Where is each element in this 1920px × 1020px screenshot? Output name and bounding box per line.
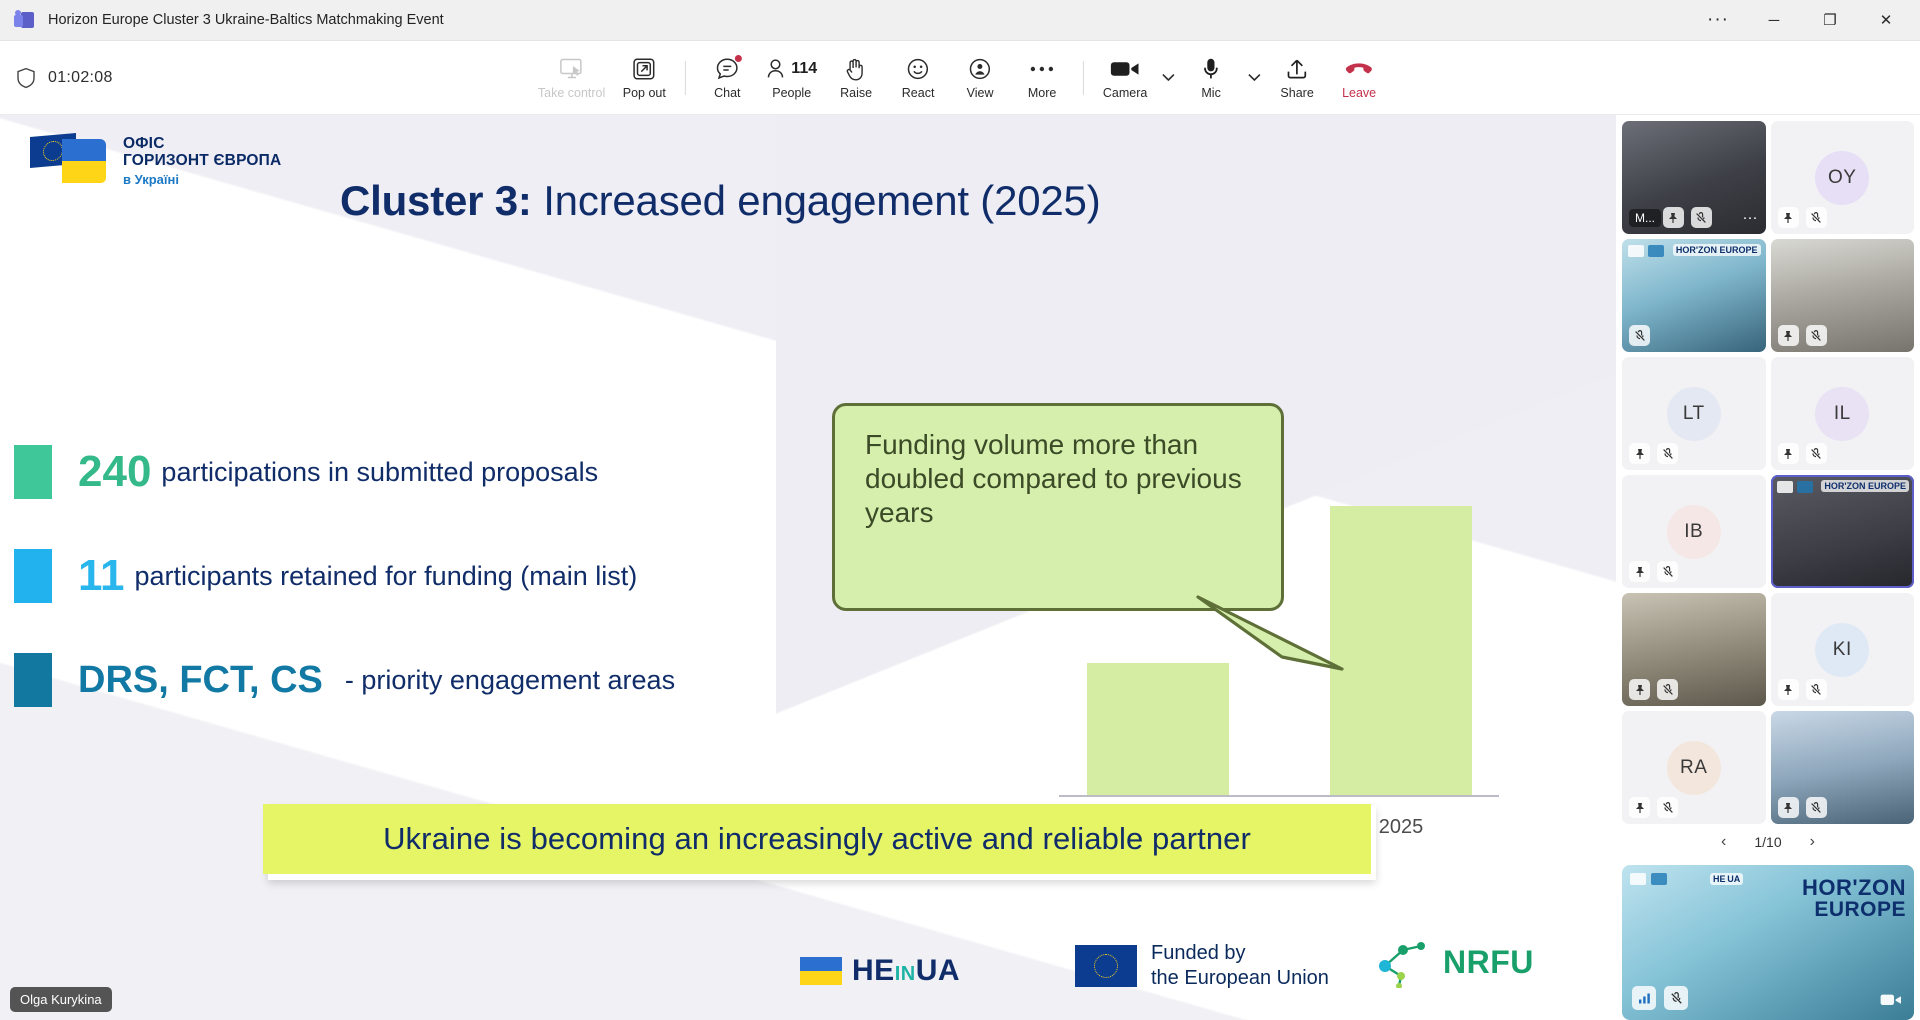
participant-tile[interactable]: IL	[1771, 357, 1915, 470]
people-icon	[766, 57, 788, 81]
list-item: 11 participants retained for funding (ma…	[14, 549, 914, 603]
pager-next-button[interactable]: ›	[1804, 831, 1821, 853]
mic-off-icon	[1657, 679, 1678, 700]
self-he-line-2: EUROPE	[1802, 899, 1906, 920]
pin-icon[interactable]	[1629, 679, 1650, 700]
camera-icon	[1110, 55, 1140, 83]
bullet-chip-green	[14, 445, 52, 499]
presenter-name-tag: Olga Kurykina	[10, 987, 112, 1012]
slide-title-bold: Cluster 3:	[340, 177, 532, 224]
hecua-text-in: IN	[895, 963, 916, 985]
bullet-chip-blue	[14, 549, 52, 603]
participant-tile[interactable]: IB	[1622, 475, 1766, 588]
avatar: RA	[1667, 741, 1721, 795]
slide-title: Cluster 3: Increased engagement (2025)	[340, 177, 1101, 225]
pop-out-icon	[632, 55, 656, 83]
eu-ukraine-flags-icon	[30, 133, 112, 181]
mic-off-icon	[1806, 325, 1827, 346]
participant-tile-active-speaker[interactable]: HOR'ZON EUROPE	[1771, 475, 1915, 588]
more-label: More	[1028, 86, 1056, 100]
screen-share-badge	[1777, 481, 1813, 493]
self-camera-icon	[1880, 992, 1902, 1008]
nrfu-text: NRFU	[1443, 944, 1534, 981]
slide-highlight-banner: Ukraine is becoming an increasingly acti…	[263, 804, 1371, 874]
pin-icon[interactable]	[1663, 207, 1684, 228]
share-icon	[1285, 55, 1309, 83]
meeting-stage: ОФІС ГОРИЗОНТ ЄВРОПА в Україні Cluster 3…	[0, 115, 1920, 1020]
mic-chevron-down-icon[interactable]	[1242, 58, 1266, 98]
avatar: IB	[1667, 505, 1721, 559]
take-control-label: Take control	[538, 86, 605, 100]
pin-icon[interactable]	[1629, 561, 1650, 582]
ukraine-flag-icon	[800, 957, 842, 985]
participant-tile[interactable]: HOR'ZON EUROPE	[1622, 239, 1766, 352]
take-control-button[interactable]: Take control	[530, 48, 613, 108]
people-button[interactable]: 114 People	[758, 48, 825, 108]
chart-bar-2025	[1330, 506, 1472, 796]
chat-label: Chat	[714, 86, 740, 100]
camera-chevron-down-icon[interactable]	[1156, 58, 1180, 98]
pin-icon[interactable]	[1629, 797, 1650, 818]
avatar: LT	[1667, 387, 1721, 441]
he-chip: HOR'ZON EUROPE	[1673, 244, 1761, 256]
chat-button[interactable]: Chat	[696, 48, 758, 108]
pager-label: 1/10	[1754, 834, 1781, 850]
funded-by-eu-logo: Funded by the European Union	[1075, 941, 1329, 990]
react-button[interactable]: React	[887, 48, 949, 108]
window-controls: ··· ─ ❐ ✕	[1690, 0, 1914, 40]
list-item: DRS, FCT, CS - priority engagement areas	[14, 653, 914, 707]
eu-flag-icon	[1075, 945, 1137, 987]
window-minimize-button[interactable]: ─	[1746, 0, 1802, 40]
self-he-title: HOR'ZON EUROPE	[1802, 877, 1906, 921]
slide-bullet-list: 240 participations in submitted proposal…	[14, 445, 914, 757]
self-he-line-1: HOR'ZON	[1802, 875, 1906, 900]
raise-hand-button[interactable]: Raise	[825, 48, 887, 108]
toolbar-divider-2	[1083, 61, 1084, 95]
mic-label: Mic	[1201, 86, 1220, 100]
people-count: 114	[791, 60, 817, 78]
view-label: View	[967, 86, 994, 100]
bullet-number: 11	[78, 554, 125, 598]
view-icon	[968, 55, 992, 83]
more-button[interactable]: More	[1011, 48, 1073, 108]
window-titlebar: Horizon Europe Cluster 3 Ukraine-Baltics…	[0, 0, 1920, 41]
pop-out-button[interactable]: Pop out	[613, 48, 675, 108]
toolbar-divider	[685, 61, 686, 95]
mic-button[interactable]: Mic	[1180, 48, 1242, 108]
react-smiley-icon	[906, 55, 930, 83]
he-chip: HOR'ZON EUROPE	[1821, 480, 1909, 492]
shield-icon	[16, 67, 36, 89]
mic-off-icon[interactable]	[1664, 986, 1688, 1010]
mic-off-icon	[1806, 797, 1827, 818]
pager-prev-button[interactable]: ‹	[1715, 831, 1732, 853]
tile-more-icon[interactable]: ···	[1743, 209, 1758, 226]
camera-button[interactable]: Camera	[1094, 48, 1156, 108]
callout-text: Funding volume more than doubled compare…	[865, 428, 1257, 530]
eu-funding-line-2: the European Union	[1151, 966, 1329, 990]
meeting-timer-group: 01:02:08	[16, 67, 113, 89]
chart-x-axis	[1059, 795, 1499, 797]
pin-icon[interactable]	[1778, 679, 1799, 700]
horizon-europe-office-logo: ОФІС ГОРИЗОНТ ЄВРОПА в Україні	[30, 133, 281, 187]
bullet-text: participants retained for funding (main …	[135, 561, 638, 592]
teams-icon	[14, 10, 34, 30]
screen-share-badge	[1628, 245, 1664, 257]
people-label: People	[772, 86, 811, 100]
participant-pager: ‹ 1/10 ›	[1622, 824, 1914, 861]
participant-grid: M... ··· OY	[1622, 121, 1914, 824]
bullet-number: 240	[78, 450, 151, 494]
leave-call-icon	[1345, 55, 1373, 83]
self-screen-share-badge	[1630, 873, 1667, 885]
mic-off-icon	[1806, 679, 1827, 700]
participant-tile[interactable]: M... ···	[1622, 121, 1766, 234]
bullet-number: DRS, FCT, CS	[78, 661, 323, 699]
logo-line-1: ОФІС	[123, 135, 281, 152]
slide-footer-logos: HEINUA Funded by the European Union	[0, 924, 1616, 994]
hecua-logo: HEINUA	[800, 954, 960, 988]
pin-icon[interactable]	[1629, 443, 1650, 464]
window-more-button[interactable]: ···	[1690, 0, 1746, 40]
camera-label: Camera	[1103, 86, 1147, 100]
logo-line-3: в Україні	[123, 172, 281, 187]
participant-tile[interactable]	[1771, 239, 1915, 352]
view-button[interactable]: View	[949, 48, 1011, 108]
participant-tile[interactable]: OY	[1771, 121, 1915, 234]
participant-tile[interactable]: LT	[1622, 357, 1766, 470]
raise-hand-label: Raise	[840, 86, 872, 100]
nrfu-network-icon	[1375, 936, 1433, 988]
mic-off-icon	[1657, 797, 1678, 818]
shared-content-area[interactable]: ОФІС ГОРИЗОНТ ЄВРОПА в Україні Cluster 3…	[0, 115, 1616, 1020]
leave-button[interactable]: Leave	[1328, 48, 1390, 108]
chat-unread-badge	[734, 54, 743, 63]
bullet-text: - priority engagement areas	[345, 665, 675, 696]
mic-off-icon	[1657, 561, 1678, 582]
mic-icon	[1199, 55, 1223, 83]
window-maximize-button[interactable]: ❐	[1802, 0, 1858, 40]
mic-off-icon	[1657, 443, 1678, 464]
window-title: Horizon Europe Cluster 3 Ukraine-Baltics…	[48, 12, 444, 28]
list-item: 240 participations in submitted proposal…	[14, 445, 914, 499]
participant-tile[interactable]: RA	[1622, 711, 1766, 824]
take-control-icon	[559, 55, 585, 83]
participant-rail: M... ··· OY	[1616, 115, 1920, 1020]
bullet-text: participations in submitted proposals	[161, 457, 598, 488]
banner-text: Ukraine is becoming an increasingly acti…	[383, 821, 1251, 857]
participant-tile[interactable]	[1622, 593, 1766, 706]
meeting-timer: 01:02:08	[48, 69, 113, 87]
hecua-text-he: HE	[852, 954, 895, 987]
react-label: React	[902, 86, 935, 100]
pop-out-label: Pop out	[623, 86, 666, 100]
participant-tile[interactable]	[1771, 711, 1915, 824]
meeting-toolbar: 01:02:08 Take control Pop out	[0, 41, 1920, 115]
signal-bars-icon	[1632, 986, 1656, 1010]
leave-label: Leave	[1342, 86, 1376, 100]
hecua-text-ua: UA	[916, 954, 960, 987]
pin-icon[interactable]	[1778, 797, 1799, 818]
pin-icon[interactable]	[1778, 443, 1799, 464]
tile-name: M...	[1629, 209, 1661, 227]
self-he-badge: HE UA	[1710, 873, 1743, 885]
pin-icon[interactable]	[1778, 325, 1799, 346]
mic-off-icon	[1806, 443, 1827, 464]
share-button[interactable]: Share	[1266, 48, 1328, 108]
eu-funding-line-1: Funded by	[1151, 941, 1329, 965]
mic-off-icon	[1629, 325, 1650, 346]
avatar: KI	[1815, 623, 1869, 677]
chart-bar-2021-2024	[1087, 663, 1229, 796]
logo-line-2: ГОРИЗОНТ ЄВРОПА	[123, 152, 281, 169]
window-close-button[interactable]: ✕	[1858, 0, 1914, 40]
toolbar-center-group: Take control Pop out Chat	[530, 41, 1390, 114]
avatar: OY	[1815, 151, 1869, 205]
chat-icon	[715, 55, 740, 83]
mic-off-icon	[1806, 207, 1827, 228]
bullet-chip-teal	[14, 653, 52, 707]
avatar: IL	[1815, 387, 1869, 441]
self-video-tile[interactable]: HE UA HOR'ZON EUROPE	[1622, 865, 1914, 1020]
presentation-slide: ОФІС ГОРИЗОНТ ЄВРОПА в Україні Cluster 3…	[0, 115, 1616, 1020]
share-label: Share	[1280, 86, 1313, 100]
mic-off-icon	[1691, 207, 1712, 228]
slide-title-rest: Increased engagement (2025)	[532, 177, 1101, 224]
more-ellipsis-icon	[1029, 55, 1055, 83]
pin-icon[interactable]	[1778, 207, 1799, 228]
nrfu-logo: NRFU	[1375, 936, 1534, 988]
participant-tile[interactable]: KI	[1771, 593, 1915, 706]
raise-hand-icon	[845, 55, 867, 83]
chart-callout: Funding volume more than doubled compare…	[832, 403, 1284, 611]
